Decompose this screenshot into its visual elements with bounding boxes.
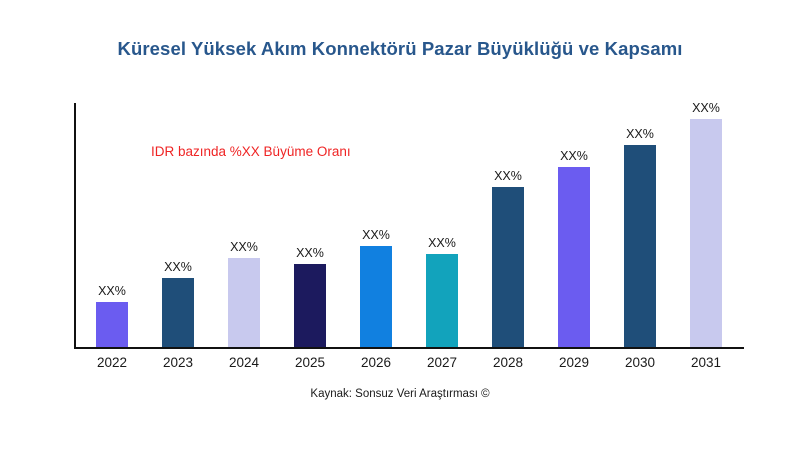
bar-2024[interactable] [228, 258, 260, 347]
bar-value-label: XX% [79, 284, 145, 298]
bar-2031[interactable] [690, 119, 722, 347]
bar-2030[interactable] [624, 145, 656, 347]
bar-value-label: XX% [409, 236, 475, 250]
plot-area: IDR bazında %XX Büyüme Oranı XX%XX%XX%XX… [74, 103, 780, 349]
x-tick-2027: 2027 [409, 355, 475, 370]
y-axis-line [74, 103, 76, 349]
bar-value-label: XX% [607, 127, 673, 141]
bar-2026[interactable] [360, 246, 392, 347]
bar-2022[interactable] [96, 302, 128, 347]
chart-title: Küresel Yüksek Akım Konnektörü Pazar Büy… [0, 38, 800, 60]
bar-2027[interactable] [426, 254, 458, 347]
bar-value-label: XX% [145, 260, 211, 274]
growth-rate-annotation: IDR bazında %XX Büyüme Oranı [151, 144, 351, 159]
x-tick-2025: 2025 [277, 355, 343, 370]
x-tick-2024: 2024 [211, 355, 277, 370]
bar-2025[interactable] [294, 264, 326, 347]
bar-value-label: XX% [343, 228, 409, 242]
x-tick-2028: 2028 [475, 355, 541, 370]
x-tick-2022: 2022 [79, 355, 145, 370]
bar-value-label: XX% [211, 240, 277, 254]
x-tick-2026: 2026 [343, 355, 409, 370]
x-tick-2031: 2031 [673, 355, 739, 370]
bar-2029[interactable] [558, 167, 590, 347]
x-tick-2023: 2023 [145, 355, 211, 370]
bar-2028[interactable] [492, 187, 524, 347]
source-note: Kaynak: Sonsuz Veri Araştırması © [0, 388, 800, 400]
bar-2023[interactable] [162, 278, 194, 347]
bar-value-label: XX% [277, 246, 343, 260]
x-tick-2029: 2029 [541, 355, 607, 370]
x-axis-line [74, 347, 744, 349]
bar-value-label: XX% [541, 149, 607, 163]
bar-value-label: XX% [475, 169, 541, 183]
bar-chart-figure: Küresel Yüksek Akım Konnektörü Pazar Büy… [0, 0, 800, 450]
x-tick-2030: 2030 [607, 355, 673, 370]
bar-value-label: XX% [673, 101, 739, 115]
